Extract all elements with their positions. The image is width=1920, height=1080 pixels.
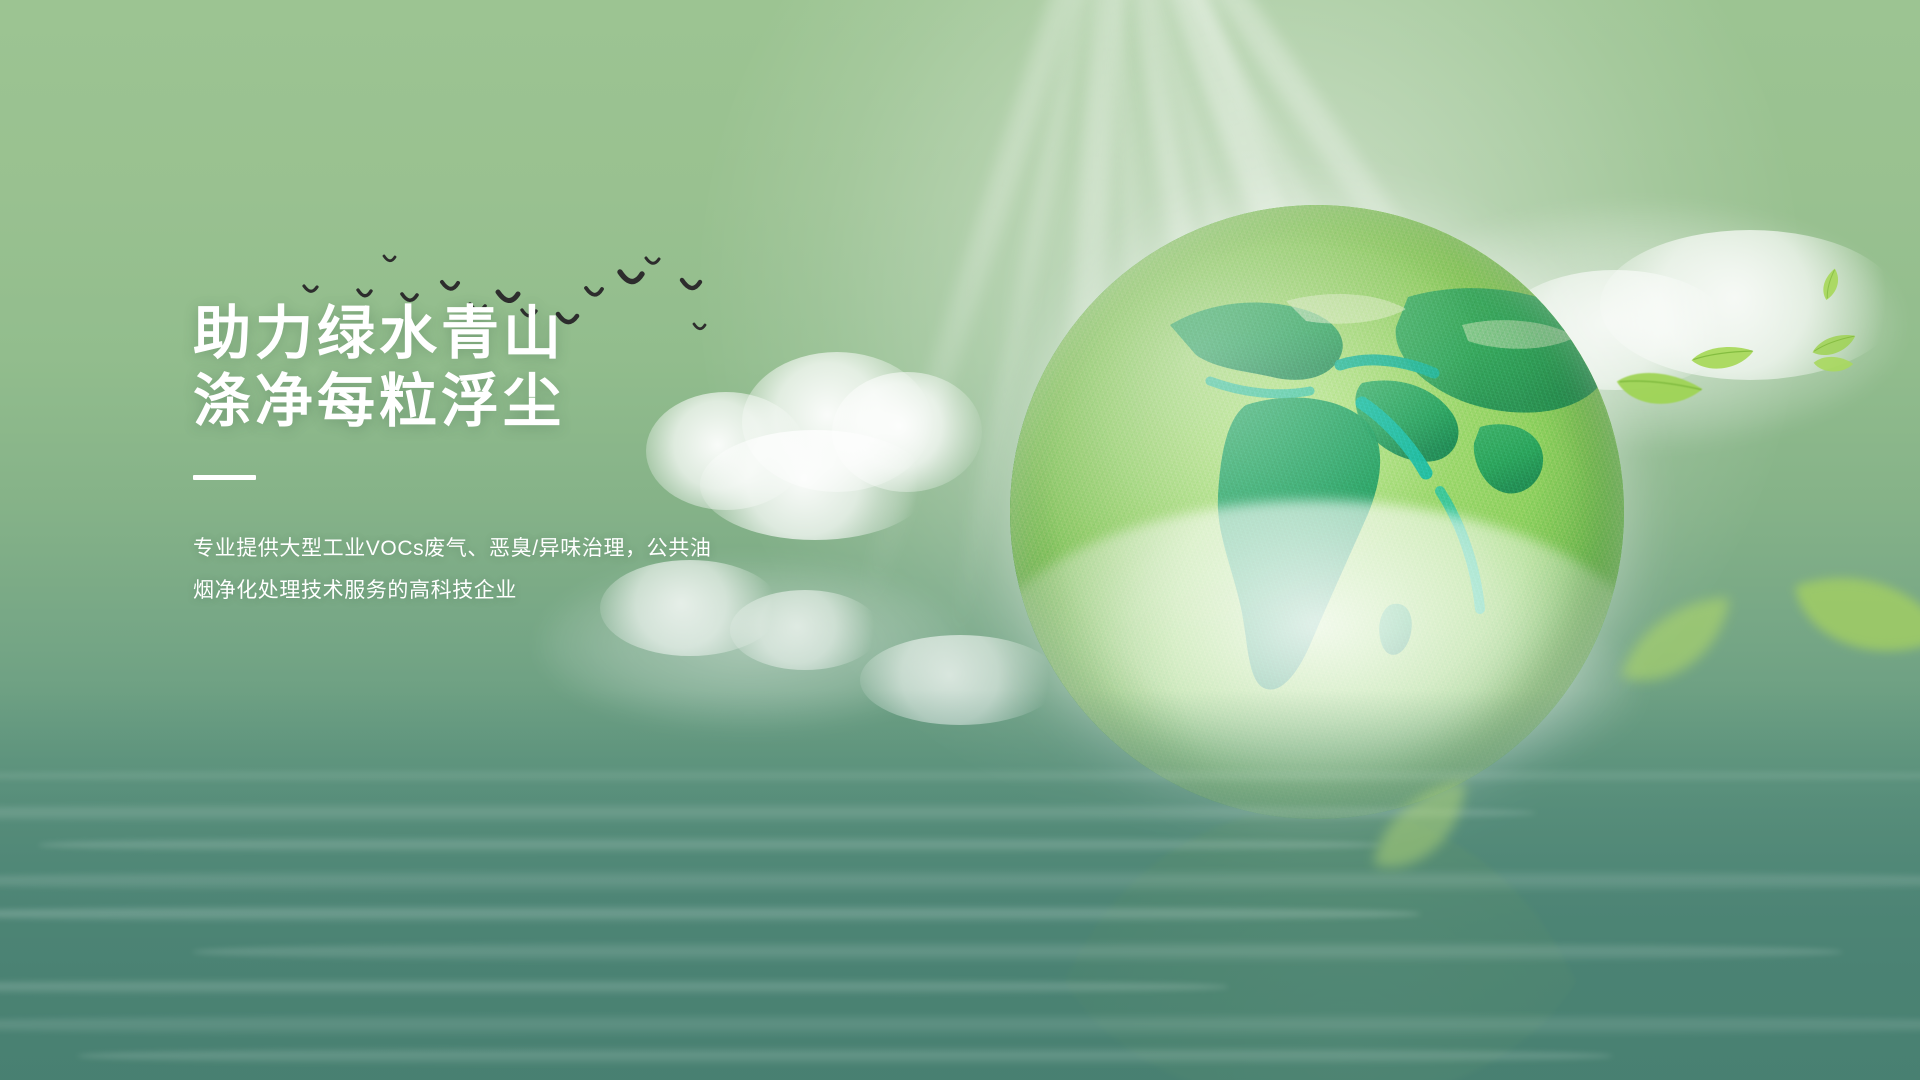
hero-banner: 助力绿水青山 涤净每粒浮尘 专业提供大型工业VOCs废气、恶臭/异味治理，公共油… [0,0,1920,1080]
leaf-icon [1809,345,1857,384]
cloud-haze [1180,600,1640,780]
water-ripple [0,978,1229,996]
globe-reflection [1040,806,1600,1080]
leaf-icon [1808,262,1855,309]
globe-rim-light [1010,205,1624,819]
globe-grass-texture [1010,205,1624,819]
headline-line-1: 助力绿水青山 [193,300,833,368]
water-ripple [0,1012,1920,1038]
cloud [1500,270,1730,390]
leaf-icon [1604,587,1750,702]
globe-landmass-icon [1010,205,1624,819]
cloud-haze [1380,205,1900,445]
leaf-icon [1770,520,1920,712]
water-ripple [192,940,1843,964]
water-ripple [0,768,1920,784]
headline-line-2: 涤净每粒浮尘 [193,368,833,436]
globe-shading [1010,205,1624,819]
cloud [860,635,1060,725]
water-ripple [38,836,1382,854]
cloud [1600,230,1900,380]
light-ray [828,0,1131,690]
light-ray [1042,0,1135,729]
light-ray [933,0,1122,715]
cloud [832,372,982,492]
title-divider [193,475,256,480]
hero-copy: 助力绿水青山 涤净每粒浮尘 专业提供大型工业VOCs废气、恶臭/异味治理，公共油… [193,300,833,612]
earth-globe [1010,205,1624,819]
page-title: 助力绿水青山 涤净每粒浮尘 [193,300,833,437]
light-ray [1106,0,1464,677]
leaf-icon [1352,772,1493,891]
water-ripple [0,802,1536,824]
light-ray [1105,0,1351,701]
light-ray [1105,0,1269,721]
water-surface [0,690,1920,1080]
leaf-icon [1607,350,1708,434]
water-ripple [77,1046,1613,1066]
water-ripple [0,868,1920,894]
globe-cloud-cover [1010,500,1624,819]
light-ray [1108,0,1636,585]
sun-glow [700,0,1800,840]
leaf-icon [1808,327,1860,363]
water-ripple [0,904,1421,924]
hero-subtitle: 专业提供大型工业VOCs废气、恶臭/异味治理，公共油烟净化处理技术服务的高科技企… [193,528,733,612]
leaf-icon [1688,337,1756,383]
light-ray [1106,0,1529,636]
light-ray [1105,0,1164,729]
